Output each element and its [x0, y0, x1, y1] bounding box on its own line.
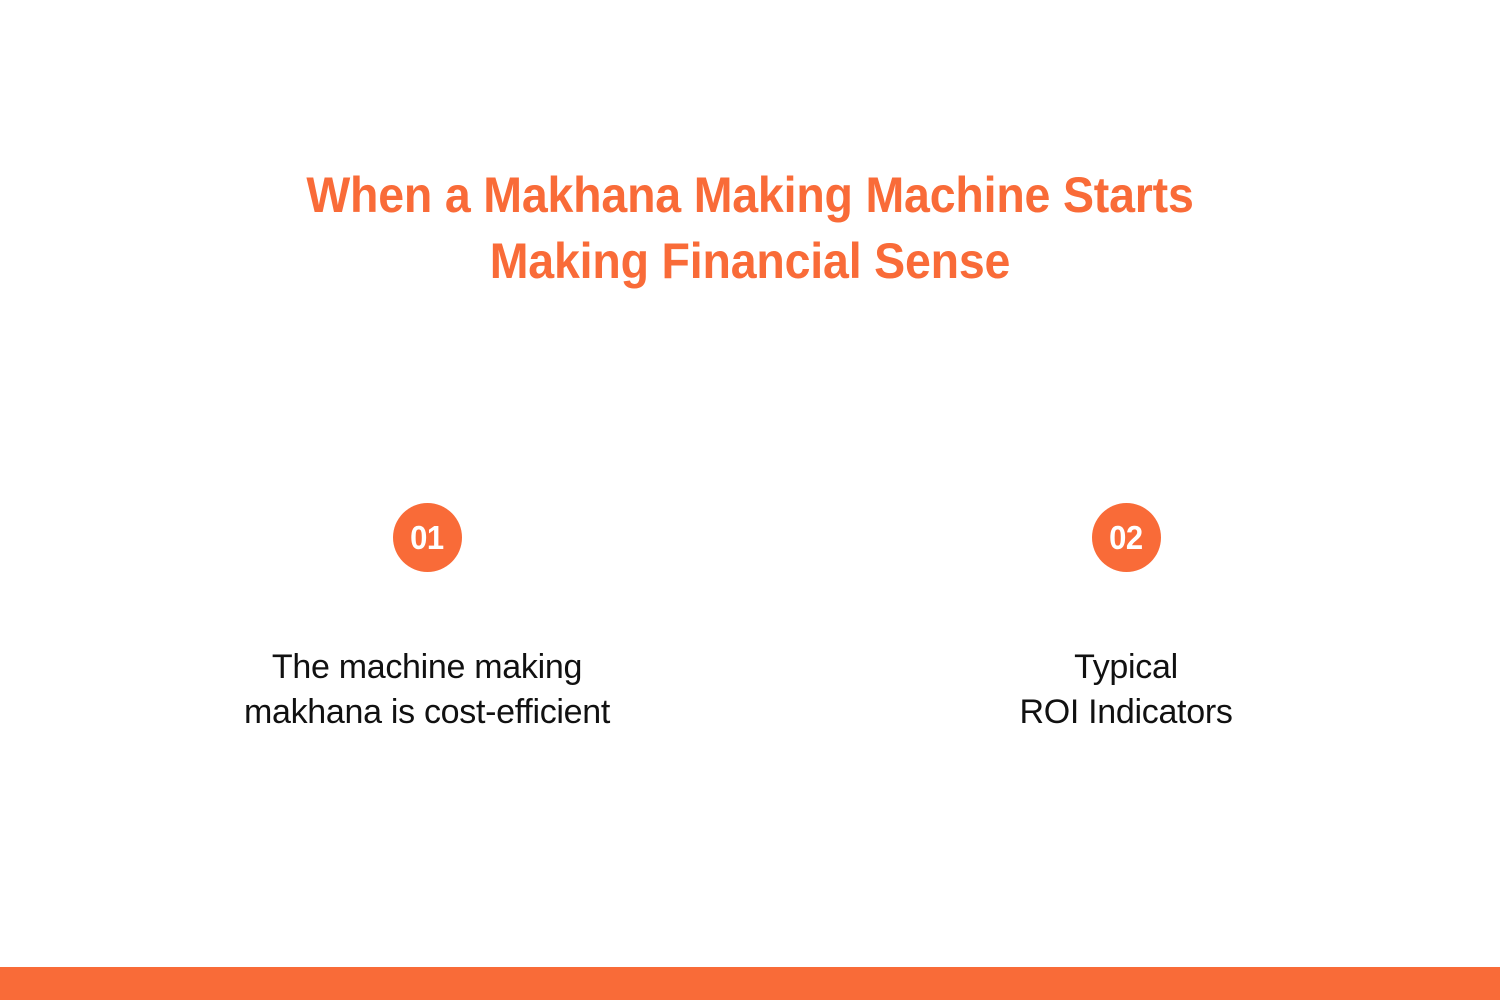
item-block-02: 02 Typical ROI Indicators: [846, 503, 1406, 735]
footer-accent-bar: [0, 967, 1500, 1000]
number-badge-01: 01: [393, 503, 462, 572]
items-container: 01 The machine making makhana is cost-ef…: [0, 0, 1500, 1000]
number-badge-01-label: 01: [410, 521, 444, 555]
item-caption-02-line-2: ROI Indicators: [846, 690, 1406, 735]
item-caption-02-line-1: Typical: [846, 645, 1406, 690]
item-caption-01-line-2: makhana is cost-efficient: [147, 690, 707, 735]
item-caption-02: Typical ROI Indicators: [846, 645, 1406, 735]
number-badge-02: 02: [1092, 503, 1161, 572]
item-block-01: 01 The machine making makhana is cost-ef…: [147, 503, 707, 735]
item-caption-01: The machine making makhana is cost-effic…: [147, 645, 707, 735]
item-caption-01-line-1: The machine making: [147, 645, 707, 690]
slide-canvas: When a Makhana Making Machine Starts Mak…: [0, 0, 1500, 1000]
number-badge-02-label: 02: [1109, 521, 1143, 555]
